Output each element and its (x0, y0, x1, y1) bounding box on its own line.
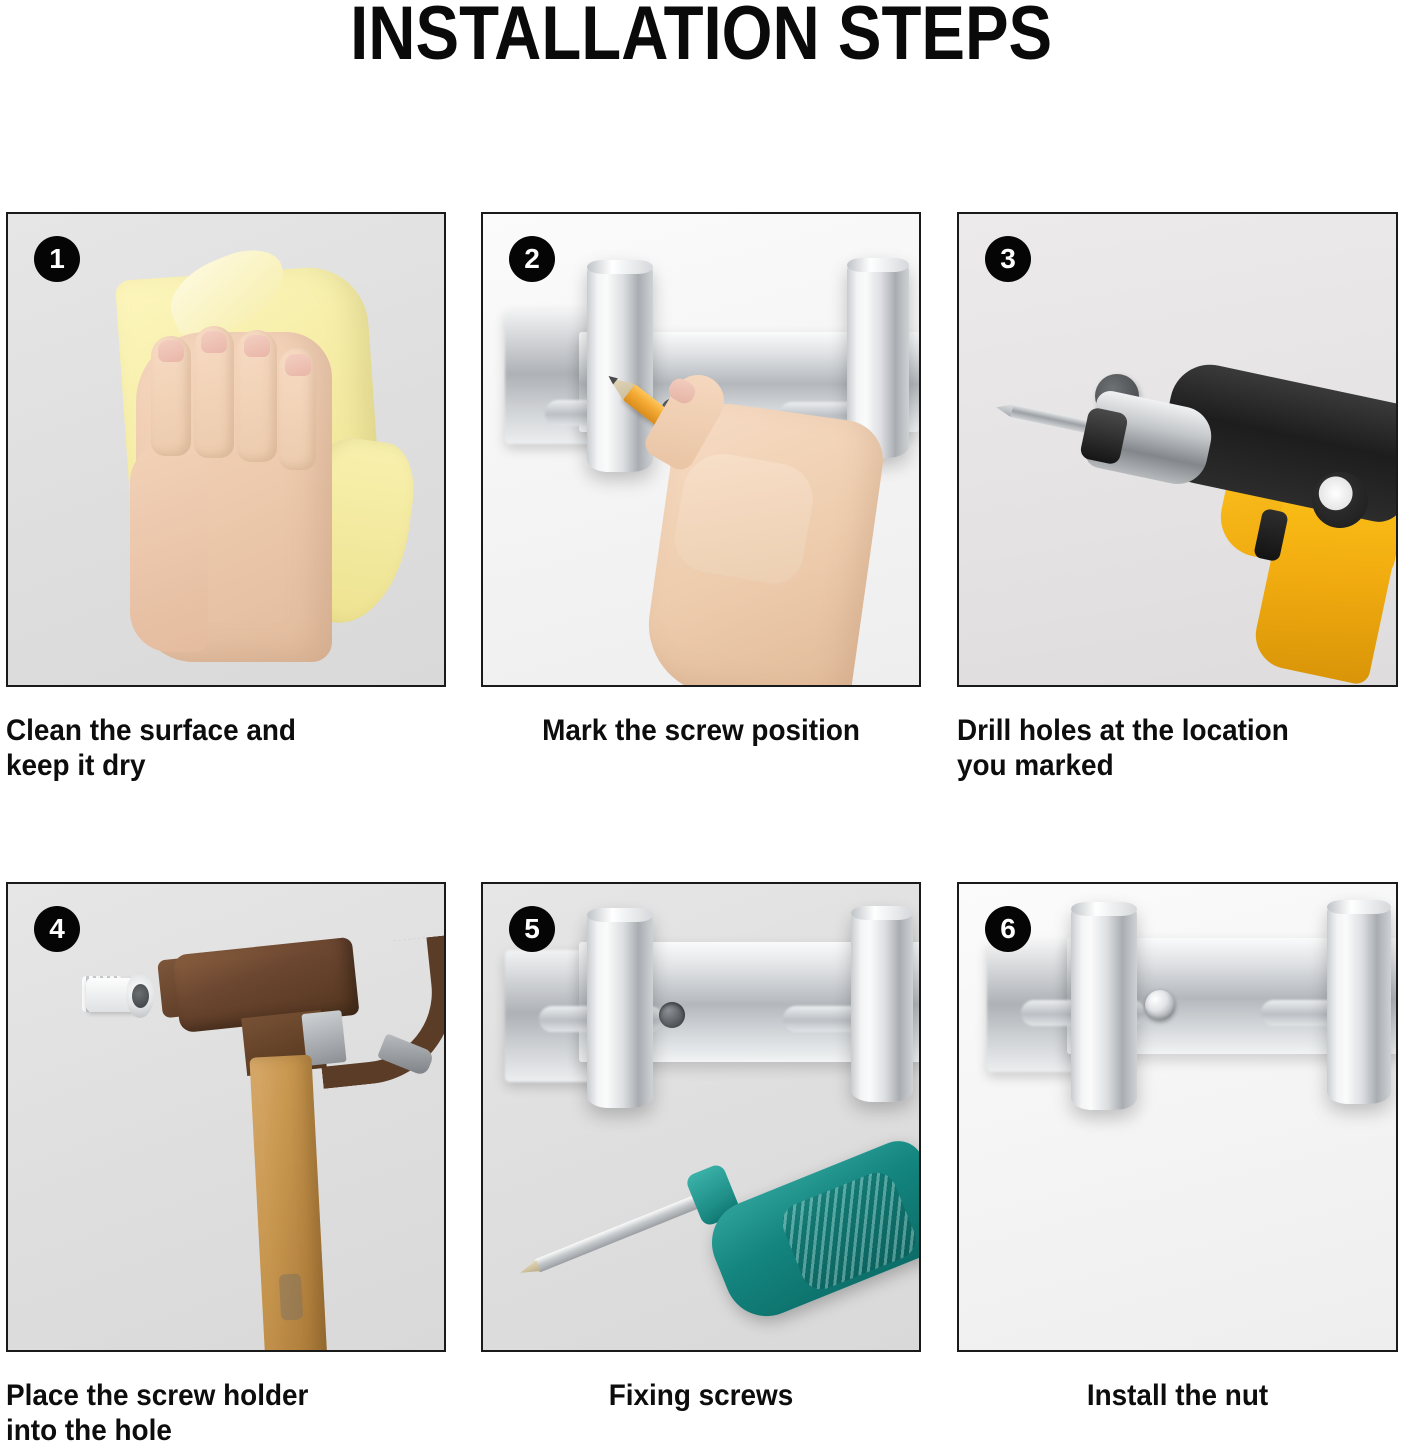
fingernail-ring (244, 335, 270, 357)
step-image-2: 2 (481, 212, 921, 687)
step-card-2: 2 Mark the screw position (481, 212, 921, 748)
anchor-bore (132, 984, 149, 1008)
installed-nut-cap (1145, 990, 1175, 1020)
hook-cylinder-left (587, 908, 653, 1108)
fingernail-index (158, 340, 184, 362)
step-image-6: 6 (957, 882, 1398, 1352)
installation-steps-grid: 1 Clean the surface and keep it dry 2 (0, 190, 1402, 1433)
fingernail-middle (201, 331, 227, 353)
step-caption-6: Install the nut (972, 1378, 1382, 1413)
step-caption-4: Place the screw holder into the hole (6, 1378, 415, 1449)
step-caption-2: Mark the screw position (496, 713, 905, 748)
step-caption-3: Drill holes at the location you marked (957, 713, 1367, 784)
step-number-badge-5: 5 (509, 906, 555, 952)
hook-cylinder-right (851, 906, 913, 1102)
step-number-badge-4: 4 (34, 906, 80, 952)
step-card-3: 3 Drill holes at the location you marked (957, 212, 1398, 784)
illustration-install-nut (959, 884, 1396, 1350)
hand-knuckles (670, 448, 819, 589)
hook-cylinder-right (1327, 900, 1391, 1104)
step-caption-1: Clean the surface and keep it dry (6, 713, 415, 784)
screwdriver-shaft (534, 1189, 715, 1273)
handle-wear-mark (279, 1273, 303, 1320)
step-caption-5: Fixing screws (496, 1378, 905, 1413)
step-image-3: 3 (957, 212, 1398, 687)
step-number-badge-6: 6 (985, 906, 1031, 952)
step-card-6: 6 Install the nut (957, 882, 1398, 1413)
step-card-1: 1 Clean the surface and keep it dry (6, 212, 446, 784)
page-header: INSTALLATION STEPS (0, 0, 1402, 190)
step-card-5: 5 Fixing screws (481, 882, 921, 1413)
screw-being-driven (659, 1002, 685, 1028)
step-number-badge-3: 3 (985, 236, 1031, 282)
hook-cylinder-left (587, 260, 653, 472)
illustration-fixing-screws (483, 884, 919, 1350)
hand-thumb-side (130, 442, 208, 652)
illustration-drill-holes (959, 214, 1396, 685)
hook-cylinder-left (1071, 902, 1137, 1110)
step-number-badge-2: 2 (509, 236, 555, 282)
step-image-5: 5 (481, 882, 921, 1352)
step-image-4: 4 (6, 882, 446, 1352)
illustration-clean-surface (8, 214, 444, 685)
illustration-place-screw-holder (8, 884, 444, 1350)
fingernail-little (285, 354, 311, 376)
illustration-mark-screw-position (483, 214, 919, 685)
page-title: INSTALLATION STEPS (350, 0, 1052, 72)
step-card-4: 4 Place the screw holder into the hole (6, 882, 446, 1449)
step-number-badge-1: 1 (34, 236, 80, 282)
screwdriver-tip (518, 1260, 541, 1279)
step-image-1: 1 (6, 212, 446, 687)
